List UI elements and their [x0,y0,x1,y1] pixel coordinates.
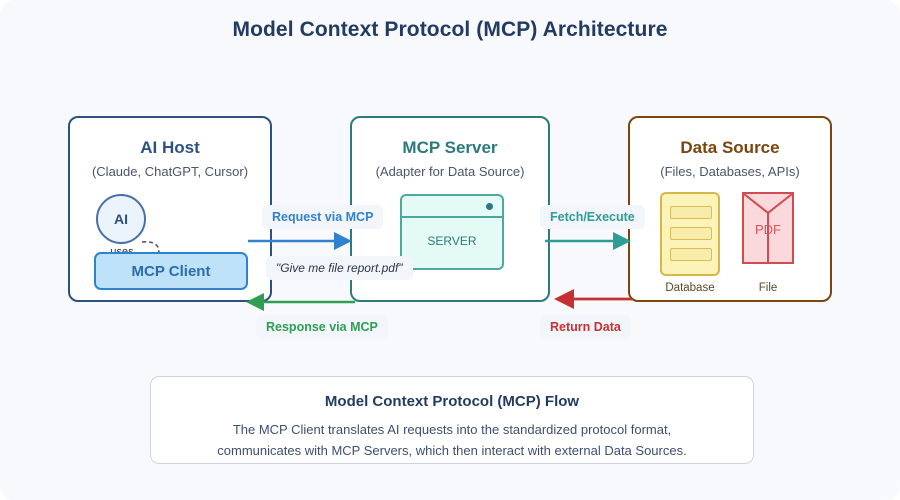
server-window-icon: SERVER [400,194,504,270]
flow-summary-line-1: The MCP Client translates AI requests in… [151,422,753,437]
data-source-title: Data Source [630,138,830,158]
node-data-source[interactable]: Data Source (Files, Databases, APIs) Dat… [628,116,832,302]
database-caption: Database [648,282,732,294]
arrow-return-data [554,289,632,309]
flow-summary-card: Model Context Protocol (MCP) Flow The MC… [150,376,754,464]
flow-summary-title: Model Context Protocol (MCP) Flow [151,393,753,410]
database-row [670,227,712,240]
edge-label-response: Response via MCP [256,315,388,339]
mcp-server-title: MCP Server [352,138,548,158]
database-row [670,206,712,219]
ai-host-title: AI Host [70,138,270,158]
server-icon-label: SERVER [402,234,502,248]
mcp-server-subtitle: (Adapter for Data Source) [352,164,548,179]
mcp-client-button[interactable]: MCP Client [94,252,248,290]
file-format-label: PDF [744,222,792,237]
database-icon [660,192,720,276]
server-status-dot-icon [486,203,493,210]
data-source-subtitle: (Files, Databases, APIs) [630,164,830,179]
file-caption: File [740,282,796,294]
edge-label-fetch: Fetch/Execute [540,205,645,229]
edge-label-quote: "Give me file report.pdf" [266,256,413,280]
database-row [670,248,712,261]
flow-summary-line-2: communicates with MCP Servers, which the… [151,443,753,458]
edge-label-return: Return Data [540,315,631,339]
ai-host-subtitle: (Claude, ChatGPT, Cursor) [70,164,270,179]
diagram-canvas: Model Context Protocol (MCP) Architectur… [0,0,900,500]
arrow-fetch-execute [545,232,631,250]
server-titlebar [402,196,502,218]
file-pdf-icon: PDF [742,192,794,264]
ai-badge-icon: AI [96,194,146,244]
page-title: Model Context Protocol (MCP) Architectur… [0,18,900,42]
edge-label-request: Request via MCP [262,205,383,229]
node-ai-host[interactable]: AI Host (Claude, ChatGPT, Cursor) AI use… [68,116,272,302]
